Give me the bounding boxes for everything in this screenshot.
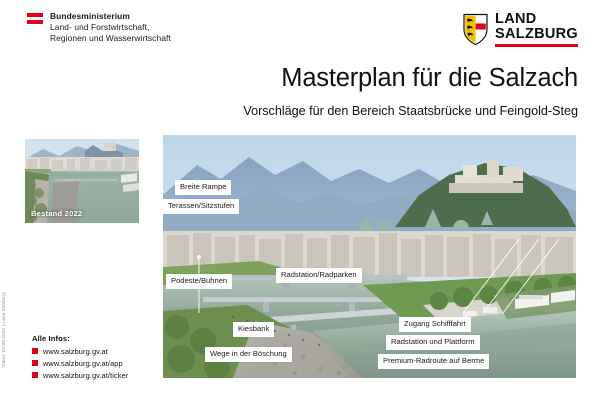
ministry-subtitle-2: Regionen und Wasserwirtschaft [50,33,171,44]
annotation-chip-kiesbank[interactable]: Kiesbank [233,322,274,337]
ministry-logo-text: Bundesministerium Land- und Forstwirtsch… [50,11,171,44]
annotation-chip-podeste-buhnen[interactable]: Podeste/Buhnen [166,274,232,289]
source-credit: Stand: 07.09.2022 | Land Salzburg [1,292,6,368]
square-bullet-icon [32,360,38,366]
page-title: Masterplan für die Salzach [281,64,578,93]
land-salzburg-logo: LAND SALZBURG [462,12,578,47]
ministry-name: Bundesministerium [50,11,171,22]
wordmark-red-rule [495,44,578,47]
main-photo-image [163,135,576,378]
page-subtitle: Vorschläge für den Bereich Staatsbrücke … [243,104,578,118]
annotation-chip-zugang-schifffahrt[interactable]: Zugang Schifffahrt [399,317,471,332]
inset-photo-caption: Bestand 2022 [31,209,82,218]
ministry-subtitle-1: Land- und Forstwirtschaft, [50,22,171,33]
land-salzburg-wordmark: LAND SALZBURG [495,12,578,47]
square-bullet-icon [32,372,38,378]
annotation-chip-terassen-sitzstufen[interactable]: Terassen/Sitzstufen [163,199,239,214]
poster-page: Bundesministerium Land- und Forstwirtsch… [0,0,600,400]
austrian-flag-icon [27,13,43,24]
inset-photo-bestand: Bestand 2022 [25,139,139,223]
square-bullet-icon [32,348,38,354]
annotation-chip-radstation-radparken[interactable]: Radstation/Radparken [276,268,362,283]
info-links-heading: Alle Infos: [32,334,128,343]
info-link-row[interactable]: www.salzburg.gv.at [32,347,128,356]
info-link-ticker[interactable]: www.salzburg.gv.at/ticker [43,371,128,380]
salzburg-coat-of-arms-icon [462,13,489,46]
annotation-chip-breite-rampe[interactable]: Breite Rampe [175,180,231,195]
wordmark-line-2: SALZBURG [495,27,578,42]
annotation-chip-radstation-und-plattform[interactable]: Radstation und Plattform [386,335,480,350]
info-link-website[interactable]: www.salzburg.gv.at [43,347,108,356]
info-links-block: Alle Infos: www.salzburg.gv.at www.salzb… [32,334,128,383]
info-link-app[interactable]: www.salzburg.gv.at/app [43,359,123,368]
info-link-row[interactable]: www.salzburg.gv.at/ticker [32,371,128,380]
info-link-row[interactable]: www.salzburg.gv.at/app [32,359,128,368]
annotation-chip-premium-radroute[interactable]: Premium-Radroute auf Berme [378,354,489,369]
annotation-chip-wege-in-der-boeschung[interactable]: Wege in der Böschung [205,347,292,362]
wordmark-line-1: LAND [495,12,578,27]
main-photo: Breite Rampe Terassen/Sitzstufen Podeste… [163,135,576,378]
ministry-logo: Bundesministerium Land- und Forstwirtsch… [27,11,171,44]
